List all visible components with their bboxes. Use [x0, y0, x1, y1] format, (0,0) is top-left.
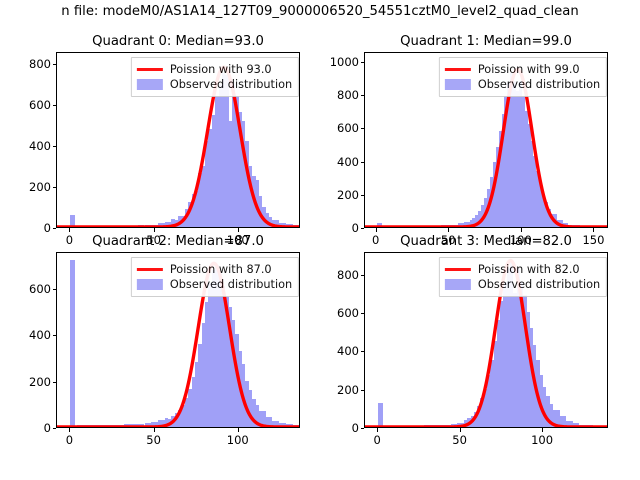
- figure-suptitle: n file: modeM0/AS1A14_127T09_9000006520_…: [61, 4, 578, 19]
- y-tick-mark: [53, 335, 57, 336]
- subplot-title: Quadrant 1: Median=99.0: [400, 34, 572, 49]
- y-tick-mark: [53, 187, 57, 188]
- y-tick-mark: [361, 95, 365, 96]
- y-tick-label: 200: [337, 383, 359, 397]
- y-tick-mark: [361, 128, 365, 129]
- y-tick-label: 800: [337, 268, 359, 282]
- matplotlib-figure: n file: modeM0/AS1A14_127T09_9000006520_…: [0, 0, 640, 480]
- subplot-quadrant-3: Quadrant 3: Median=82.0 Poission with 82…: [364, 252, 608, 428]
- x-tick-mark: [238, 228, 239, 232]
- line-swatch-icon: [445, 268, 471, 272]
- y-tick-mark: [361, 351, 365, 352]
- x-tick-mark: [448, 228, 449, 232]
- y-tick-label: 200: [29, 375, 51, 389]
- legend-label: Poission with 87.0: [170, 263, 272, 276]
- x-tick-label: 0: [374, 433, 381, 447]
- y-tick-label: 0: [44, 421, 51, 435]
- x-tick-mark: [238, 428, 239, 432]
- y-tick-label: 600: [29, 282, 51, 296]
- y-tick-label: 400: [337, 155, 359, 169]
- patch-swatch-icon: [445, 79, 471, 90]
- legend[interactable]: Poission with 82.0 Observed distribution: [439, 257, 607, 297]
- y-tick-mark: [53, 146, 57, 147]
- x-tick-mark: [521, 228, 522, 232]
- x-tick-label: 0: [66, 233, 73, 247]
- y-tick-label: 800: [29, 57, 51, 71]
- y-tick-mark: [361, 390, 365, 391]
- y-tick-mark: [361, 162, 365, 163]
- legend-label: Observed distribution: [478, 78, 600, 91]
- y-tick-label: 400: [29, 139, 51, 153]
- y-tick-label: 400: [337, 344, 359, 358]
- y-tick-mark: [361, 428, 365, 429]
- patch-swatch-icon: [137, 79, 163, 90]
- x-tick-mark: [154, 228, 155, 232]
- x-tick-label: 0: [372, 233, 379, 247]
- y-tick-label: 1000: [330, 55, 359, 69]
- y-tick-label: 0: [352, 221, 359, 235]
- legend-label: Observed distribution: [170, 278, 292, 291]
- x-tick-mark: [376, 228, 377, 232]
- y-tick-mark: [53, 105, 57, 106]
- x-tick-mark: [542, 428, 543, 432]
- legend-label: Poission with 93.0: [170, 63, 272, 76]
- subplot-title: Quadrant 2: Median=87.0: [92, 234, 264, 249]
- y-tick-label: 600: [337, 306, 359, 320]
- subplot-quadrant-2: Quadrant 2: Median=87.0 Poission with 87…: [56, 252, 300, 428]
- patch-swatch-icon: [137, 279, 163, 290]
- y-tick-label: 200: [29, 180, 51, 194]
- patch-swatch-icon: [445, 279, 471, 290]
- y-tick-label: 200: [337, 188, 359, 202]
- y-tick-mark: [361, 195, 365, 196]
- y-tick-mark: [53, 289, 57, 290]
- line-swatch-icon: [137, 268, 163, 272]
- legend-entry-observed: Observed distribution: [445, 277, 600, 292]
- x-tick-mark: [593, 228, 594, 232]
- x-tick-label: 100: [531, 433, 553, 447]
- y-tick-mark: [53, 64, 57, 65]
- y-tick-mark: [361, 313, 365, 314]
- y-tick-label: 600: [337, 121, 359, 135]
- x-tick-mark: [69, 228, 70, 232]
- line-swatch-icon: [445, 68, 471, 72]
- y-tick-mark: [361, 275, 365, 276]
- subplot-quadrant-1: Quadrant 1: Median=99.0 Poission with 99…: [364, 52, 608, 228]
- x-tick-label: 100: [227, 433, 249, 447]
- subplot-title: Quadrant 0: Median=93.0: [92, 34, 264, 49]
- legend-entry-observed: Observed distribution: [137, 77, 292, 92]
- y-tick-mark: [361, 62, 365, 63]
- legend-label: Observed distribution: [478, 278, 600, 291]
- line-swatch-icon: [137, 68, 163, 72]
- y-tick-label: 400: [29, 328, 51, 342]
- x-tick-mark: [69, 428, 70, 432]
- legend-entry-poisson: Poission with 93.0: [137, 62, 292, 77]
- x-tick-label: 50: [146, 433, 161, 447]
- x-tick-mark: [460, 428, 461, 432]
- y-tick-label: 600: [29, 98, 51, 112]
- legend[interactable]: Poission with 99.0 Observed distribution: [439, 57, 607, 97]
- x-tick-mark: [154, 428, 155, 432]
- y-tick-label: 0: [44, 221, 51, 235]
- y-tick-label: 0: [352, 421, 359, 435]
- x-tick-mark: [377, 428, 378, 432]
- legend[interactable]: Poission with 87.0 Observed distribution: [131, 257, 299, 297]
- legend-label: Poission with 99.0: [478, 63, 580, 76]
- legend-label: Observed distribution: [170, 78, 292, 91]
- legend[interactable]: Poission with 93.0 Observed distribution: [131, 57, 299, 97]
- subplot-title: Quadrant 3: Median=82.0: [400, 234, 572, 249]
- legend-entry-poisson: Poission with 87.0: [137, 262, 292, 277]
- y-tick-mark: [361, 228, 365, 229]
- y-tick-mark: [53, 228, 57, 229]
- y-tick-mark: [53, 428, 57, 429]
- y-tick-mark: [53, 382, 57, 383]
- x-tick-label: 0: [66, 433, 73, 447]
- legend-entry-observed: Observed distribution: [137, 277, 292, 292]
- legend-entry-poisson: Poission with 99.0: [445, 62, 600, 77]
- x-tick-label: 150: [582, 233, 604, 247]
- subplot-quadrant-0: Quadrant 0: Median=93.0 Poission with 93…: [56, 52, 300, 228]
- legend-entry-observed: Observed distribution: [445, 77, 600, 92]
- legend-entry-poisson: Poission with 82.0: [445, 262, 600, 277]
- y-tick-label: 800: [337, 88, 359, 102]
- legend-label: Poission with 82.0: [478, 263, 580, 276]
- x-tick-label: 50: [452, 433, 467, 447]
